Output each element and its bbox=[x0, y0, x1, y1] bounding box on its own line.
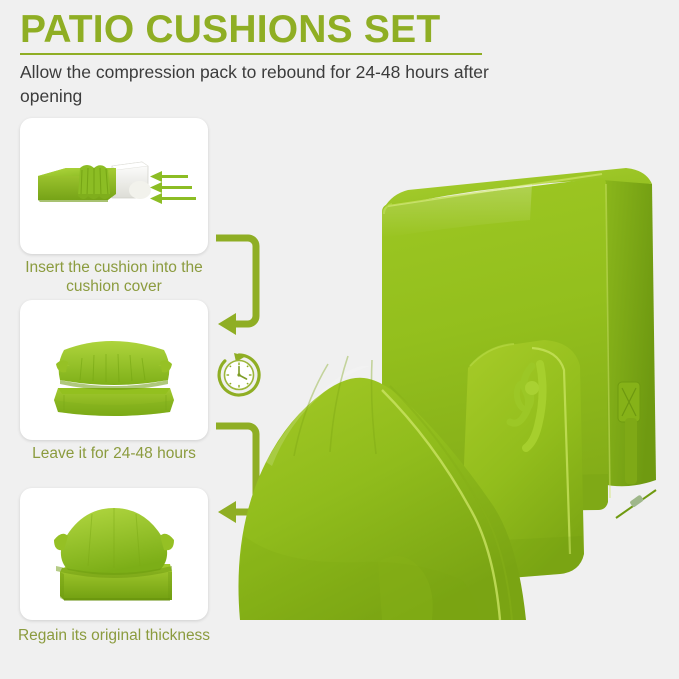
page-subtitle: Allow the compression pack to rebound fo… bbox=[20, 60, 490, 108]
lofted-cushion-illustration bbox=[20, 488, 208, 620]
step-card-1 bbox=[20, 118, 208, 254]
step-card-3 bbox=[20, 488, 208, 620]
insert-direction-arrows bbox=[150, 171, 196, 204]
step-caption-3: Regain its original thickness bbox=[8, 626, 220, 645]
cushion-cover-insert-illustration bbox=[20, 118, 208, 254]
infographic-root: PATIO CUSHIONS SET Allow the compression… bbox=[0, 0, 679, 679]
compressed-cushion-illustration bbox=[20, 300, 208, 440]
title-divider bbox=[20, 53, 482, 55]
zipper bbox=[616, 490, 656, 518]
step-caption-1: Insert the cushion into the cushion cove… bbox=[8, 258, 220, 296]
patio-cushion-set-photo bbox=[232, 150, 679, 620]
step-card-2 bbox=[20, 300, 208, 440]
step-caption-2: Leave it for 24-48 hours bbox=[8, 444, 220, 463]
page-title: PATIO CUSHIONS SET bbox=[20, 8, 490, 52]
